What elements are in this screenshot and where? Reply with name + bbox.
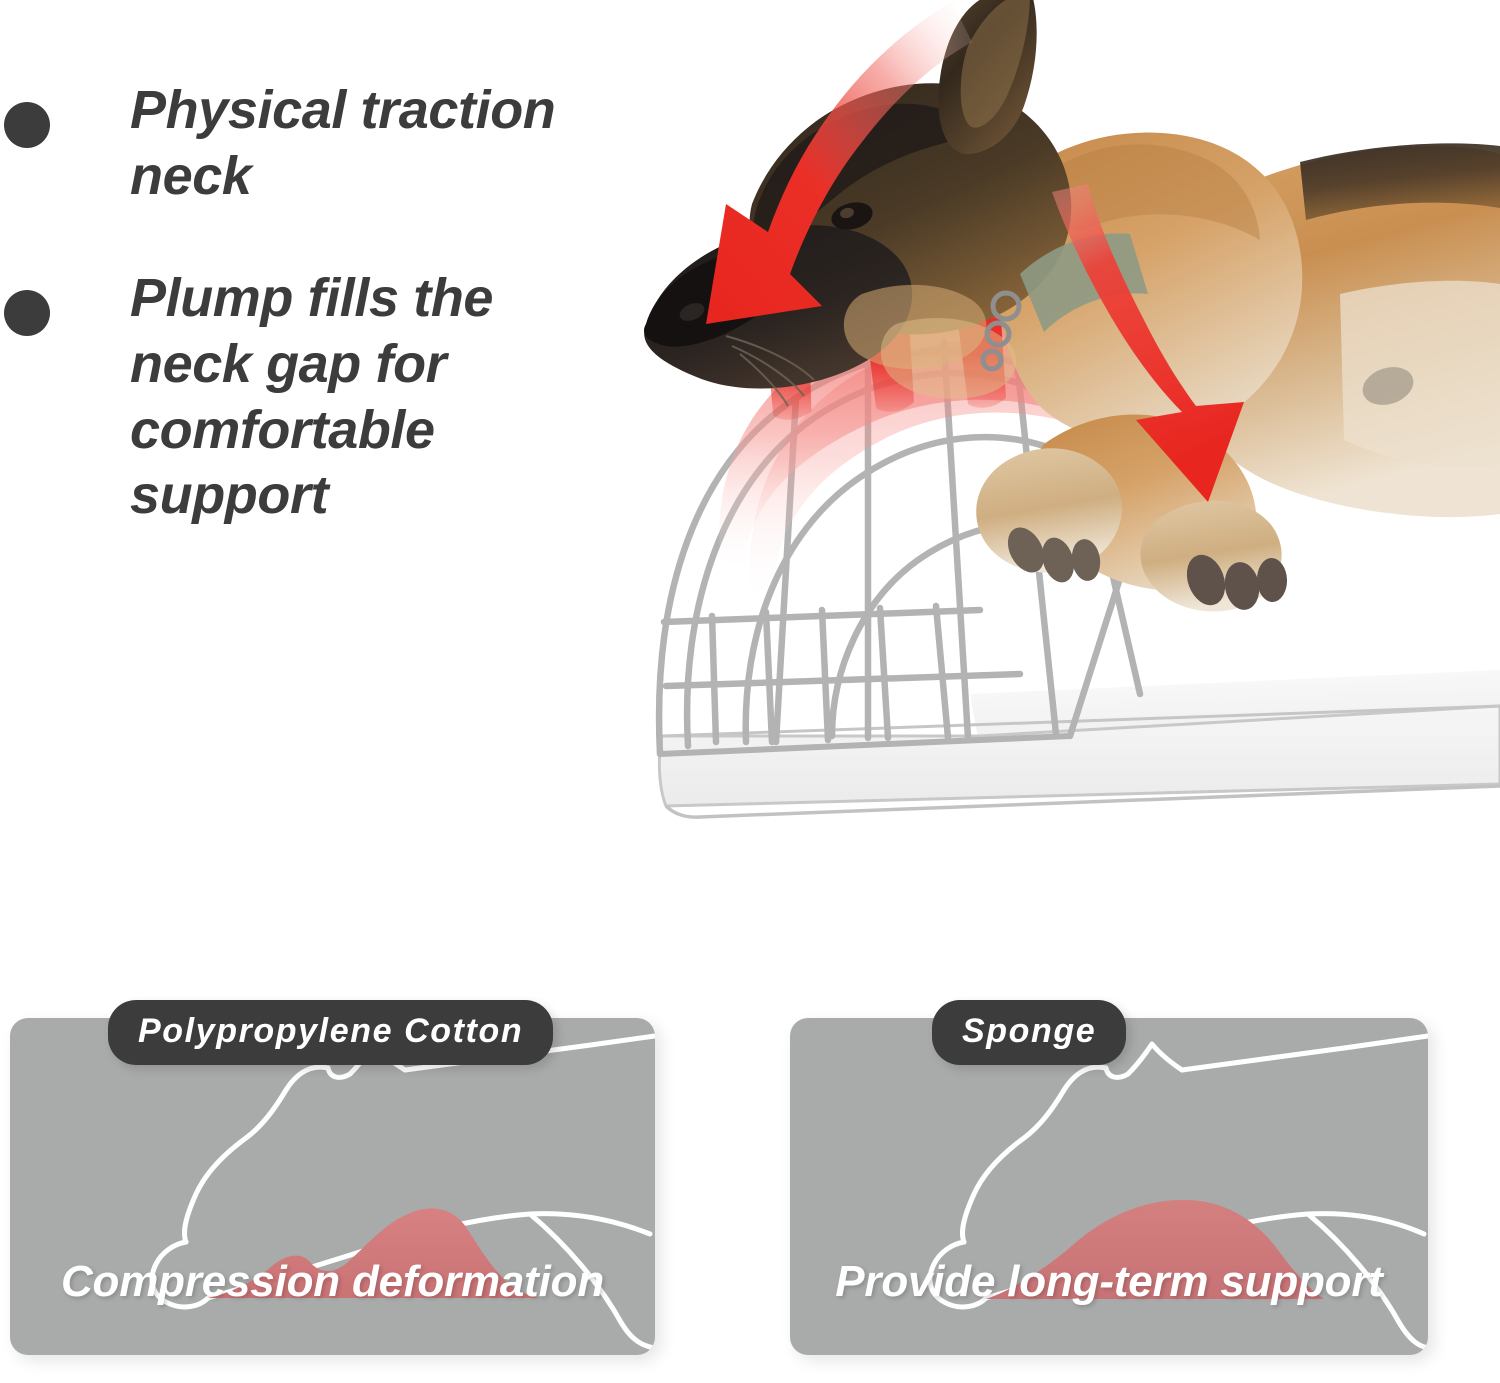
- material-badge-polypropylene-cotton: Polypropylene Cotton: [108, 1000, 553, 1065]
- material-comparison: Compression deformation Polypropylene Co…: [0, 1000, 1500, 1383]
- comparison-card-polypropylene-cotton: Compression deformation: [10, 1018, 655, 1355]
- list-item: Physical traction neck: [0, 78, 660, 210]
- mattress-base: [659, 670, 1500, 817]
- material-badge-sponge: Sponge: [932, 1000, 1126, 1065]
- bullet-dot-icon: [4, 102, 50, 148]
- list-item: Plump fills the neck gap for comfortable…: [0, 266, 660, 530]
- card-caption: Compression deformation: [10, 1257, 655, 1307]
- feature-bullet-text: Plump fills the neck gap for comfortable…: [130, 266, 600, 530]
- card-caption: Provide long-term support: [790, 1257, 1428, 1307]
- hero-illustration: [600, 0, 1500, 874]
- comparison-card-sponge: Provide long-term support: [790, 1018, 1428, 1355]
- infographic-canvas: Physical traction neck Plump fills the n…: [0, 0, 1500, 1383]
- bullet-dot-icon: [4, 290, 50, 336]
- feature-bullet-text: Physical traction neck: [130, 78, 620, 210]
- feature-bullet-list: Physical traction neck Plump fills the n…: [0, 78, 660, 585]
